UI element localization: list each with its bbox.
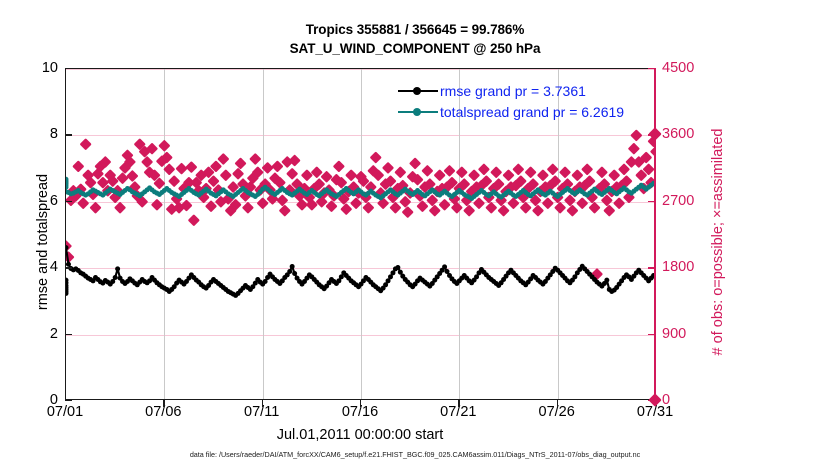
obs-marker (632, 131, 641, 140)
obs-marker (170, 177, 179, 186)
series-marker (292, 271, 297, 276)
obs-marker (347, 171, 356, 180)
obs-marker (263, 163, 272, 172)
obs-marker (352, 199, 361, 208)
y-axis-left-tick-mark (65, 334, 72, 335)
obs-marker (457, 168, 466, 177)
y-axis-left-tick-label: 10 (0, 60, 58, 76)
obs-marker (465, 206, 474, 215)
obs-marker (209, 177, 218, 186)
obs-marker (602, 196, 611, 205)
obs-marker (492, 168, 501, 177)
legend-label-rmse: rmse grand pr = 3.7361 (438, 83, 586, 99)
y-axis-right-tick-mark (648, 201, 655, 202)
obs-marker (561, 168, 570, 177)
y-axis-right-tick-mark (648, 68, 655, 69)
obs-marker (568, 206, 577, 215)
obs-marker (487, 203, 496, 212)
series-marker (113, 275, 118, 280)
obs-marker (578, 199, 587, 208)
obs-marker (229, 183, 238, 192)
series-marker (115, 266, 120, 271)
obs-marker (212, 162, 221, 171)
chart-canvas: Tropics 355881 / 356645 = 99.786% SAT_U_… (0, 0, 830, 470)
obs-marker (189, 216, 198, 225)
obs-marker (317, 197, 326, 206)
obs-marker (81, 140, 90, 149)
chart-title-line-2: SAT_U_WIND_COMPONENT @ 250 hPa (0, 41, 830, 56)
obs-marker (610, 171, 619, 180)
obs-marker (280, 206, 289, 215)
obs-marker (509, 199, 518, 208)
obs-marker (514, 165, 523, 174)
y-axis-right-title: # of obs: o=possible; ×=assimilated (710, 77, 726, 407)
obs-marker (403, 208, 412, 217)
obs-marker (556, 203, 565, 212)
obs-marker (573, 171, 582, 180)
obs-marker (116, 203, 125, 212)
obs-marker (539, 171, 548, 180)
legend: rmse grand pr = 3.7361 totalspread grand… (398, 80, 648, 122)
obs-marker (475, 199, 484, 208)
obs-marker (234, 169, 243, 178)
obs-marker (598, 168, 607, 177)
obs-marker (135, 140, 144, 149)
obs-marker (298, 200, 307, 209)
obs-marker (74, 162, 83, 171)
obs-marker (499, 206, 508, 215)
series-marker (395, 265, 400, 270)
obs-marker (160, 141, 169, 150)
series-marker (442, 264, 447, 269)
obs-marker (644, 165, 653, 174)
series-marker (66, 262, 71, 267)
legend-item-totalspread[interactable]: totalspread grand pr = 6.2619 (398, 101, 648, 122)
obs-marker (615, 199, 624, 208)
obs-marker (430, 206, 439, 215)
obs-marker (391, 203, 400, 212)
obs-marker (637, 171, 646, 180)
obs-marker (620, 165, 629, 174)
obs-marker (244, 203, 253, 212)
obs-marker (521, 203, 530, 212)
obs-marker (118, 174, 127, 183)
obs-scatter-series (66, 131, 655, 279)
y-axis-left-tick-mark (65, 267, 72, 268)
data-file-footer: data file: /Users/raeder/DAI/ATM_forcXX/… (0, 450, 830, 459)
obs-marker (440, 200, 449, 209)
x-axis-tick-mark (262, 400, 263, 407)
obs-marker (153, 200, 162, 209)
obs-marker (534, 206, 543, 215)
obs-marker (221, 171, 230, 180)
obs-marker (423, 166, 432, 175)
obs-marker (288, 169, 297, 178)
obs-marker (470, 171, 479, 180)
obs-marker (322, 172, 331, 181)
obs-marker (219, 155, 228, 164)
rmse-series (66, 245, 655, 298)
obs-marker (452, 203, 461, 212)
obs-marker (605, 206, 614, 215)
obs-marker (278, 196, 287, 205)
y-axis-left-tick-mark (65, 201, 72, 202)
obs-marker (98, 178, 107, 187)
obs-marker (543, 199, 552, 208)
series-marker (290, 264, 295, 269)
right-axis-zero-marker (648, 393, 662, 407)
obs-marker (128, 172, 137, 181)
series-marker (287, 269, 292, 274)
obs-marker (629, 144, 638, 153)
obs-marker (504, 171, 513, 180)
x-axis-title: Jul.01,2011 00:00:00 start (65, 427, 655, 443)
series-marker (604, 278, 609, 283)
obs-marker (428, 196, 437, 205)
obs-marker (435, 171, 444, 180)
legend-label-totalspread: totalspread grand pr = 6.2619 (438, 104, 624, 120)
obs-marker (384, 163, 393, 172)
obs-marker (207, 202, 216, 211)
y-axis-right-tick-label: 4500 (662, 60, 720, 76)
obs-marker (371, 153, 380, 162)
right-axis-endpoint-marker (648, 127, 662, 141)
y-axis-left-tick-mark (65, 400, 72, 401)
obs-marker (364, 203, 373, 212)
obs-marker (480, 165, 489, 174)
x-axis-tick-mark (458, 400, 459, 407)
legend-marker-totalspread-icon (398, 106, 438, 118)
obs-marker (401, 197, 410, 206)
obs-marker (445, 166, 454, 175)
chart-title-line-1: Tropics 355881 / 356645 = 99.786% (0, 22, 830, 37)
x-axis-tick-mark (360, 400, 361, 407)
obs-marker (177, 164, 186, 173)
obs-marker (236, 159, 245, 168)
obs-marker (303, 171, 312, 180)
obs-marker (327, 202, 336, 211)
obs-marker (418, 202, 427, 211)
obs-marker (583, 165, 592, 174)
obs-marker (155, 179, 164, 188)
obs-marker (273, 162, 282, 171)
obs-marker (187, 163, 196, 172)
obs-marker (165, 165, 174, 174)
obs-marker (334, 162, 343, 171)
y-axis-left-tick-mark (65, 68, 72, 69)
x-axis-tick-mark (557, 400, 558, 407)
obs-marker (411, 159, 420, 168)
obs-marker (312, 168, 321, 177)
obs-marker (396, 168, 405, 177)
obs-marker (258, 199, 267, 208)
right-axis-line (654, 68, 656, 400)
obs-marker (526, 168, 535, 177)
obs-marker (143, 158, 152, 167)
obs-marker (79, 199, 88, 208)
y-axis-left-title: rmse and totalspread (35, 77, 51, 407)
y-axis-left-tick-mark (65, 134, 72, 135)
y-axis-right-tick-mark (648, 267, 655, 268)
obs-marker (548, 165, 557, 174)
obs-marker (251, 155, 260, 164)
legend-marker-rmse-icon (398, 85, 438, 97)
obs-marker (590, 203, 599, 212)
obs-marker (566, 196, 575, 205)
legend-item-rmse[interactable]: rmse grand pr = 3.7361 (398, 80, 648, 101)
obs-marker (91, 203, 100, 212)
x-axis-tick-mark (163, 400, 164, 407)
obs-marker (342, 205, 351, 214)
y-axis-right-tick-mark (648, 334, 655, 335)
